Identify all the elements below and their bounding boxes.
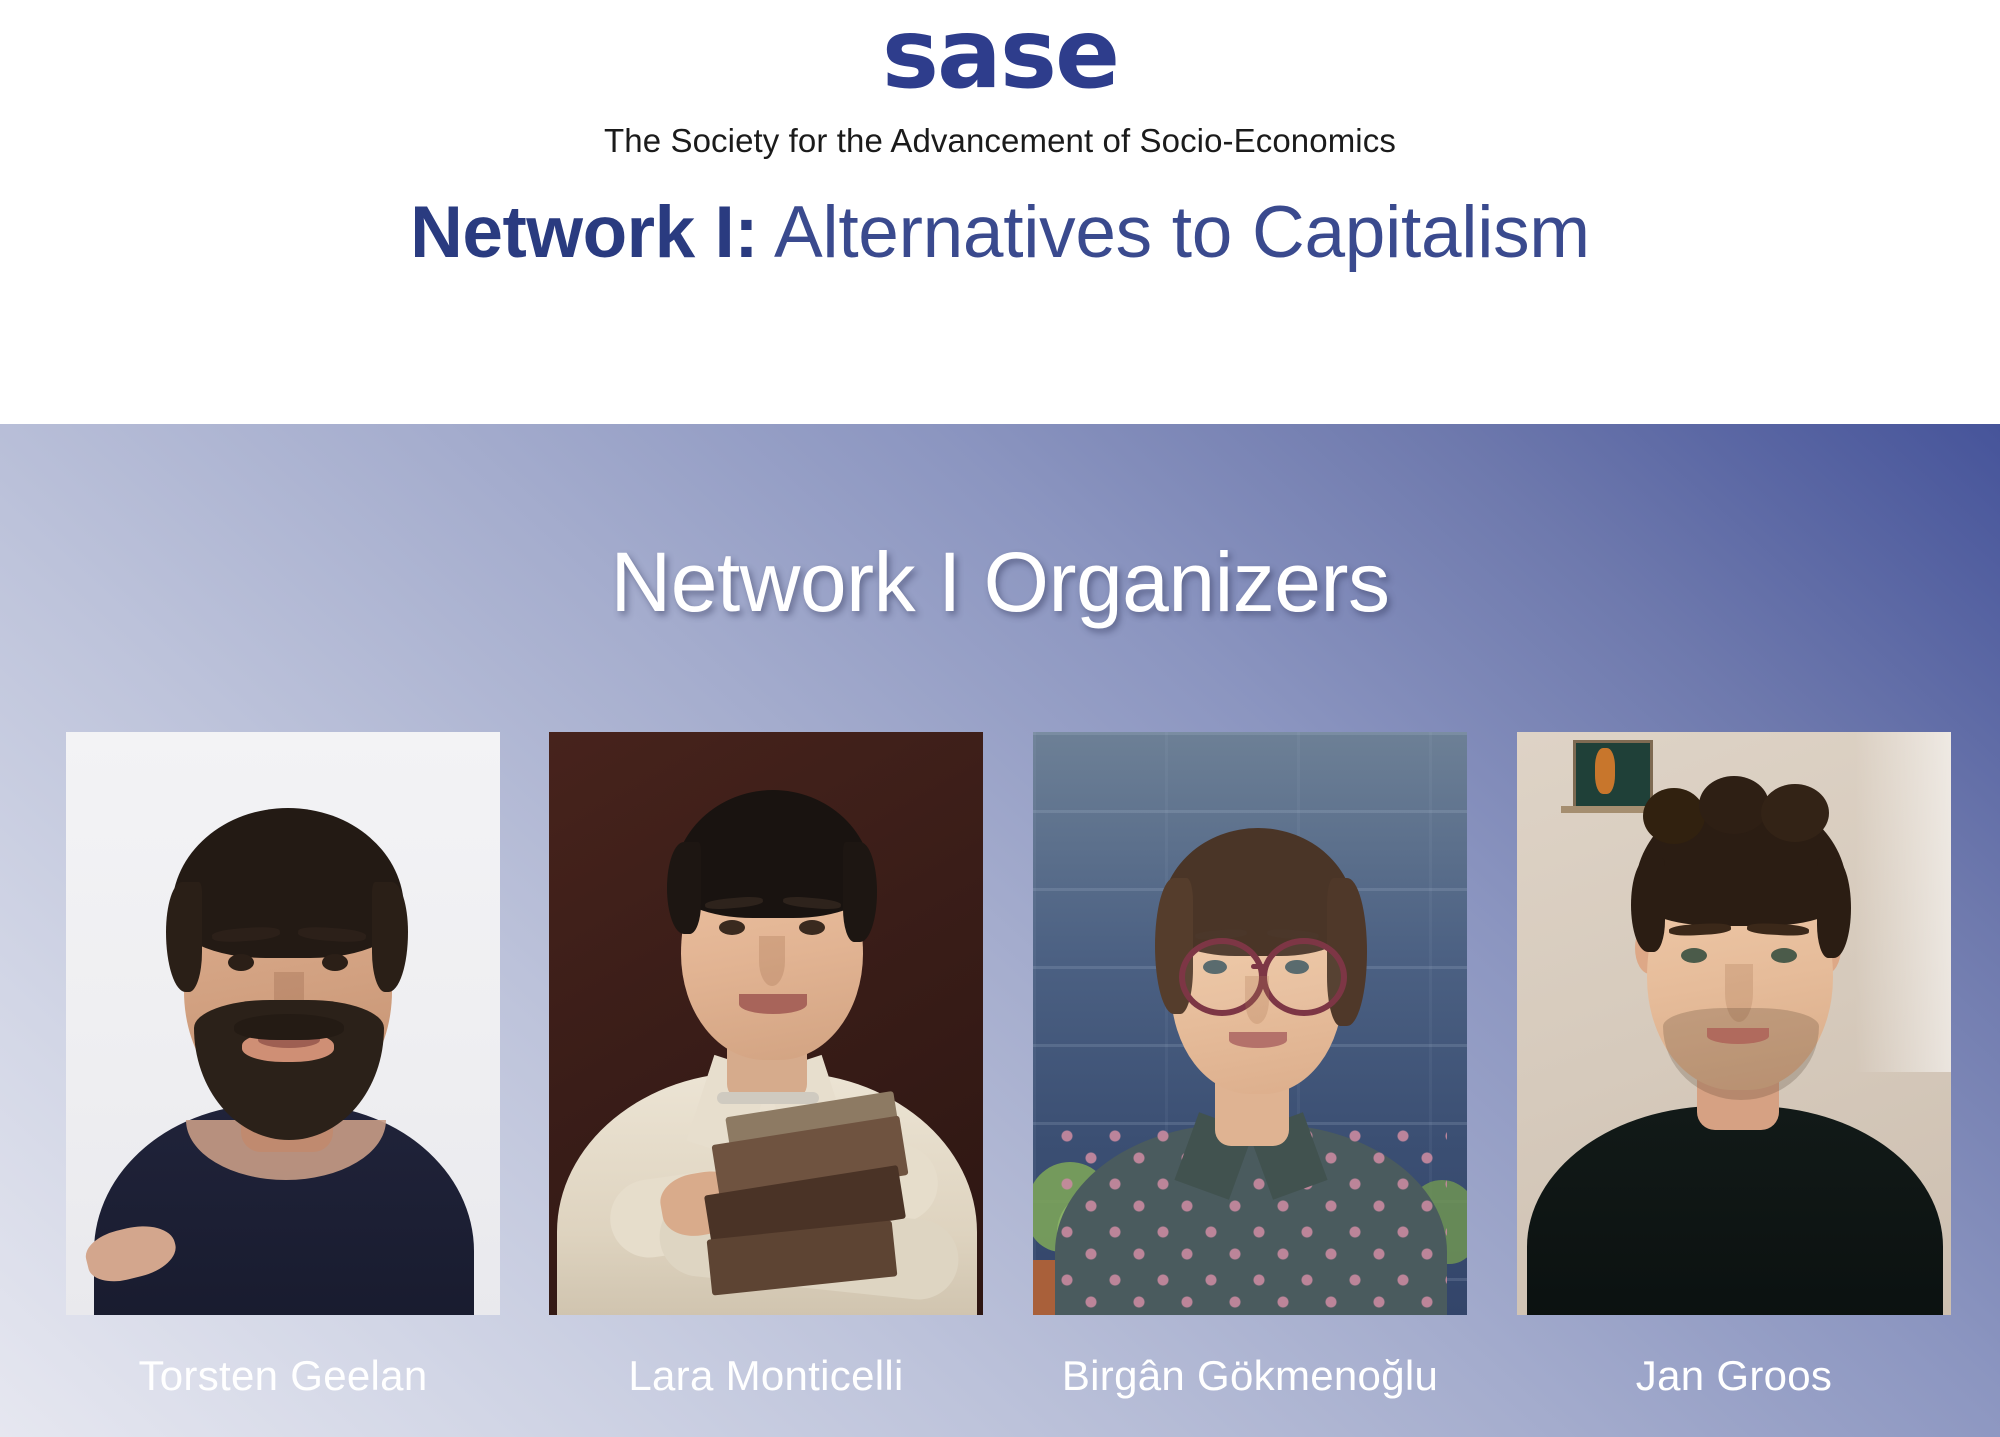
page-title-suffix: Alternatives to Capitalism [774,192,1590,273]
page-header: sase The Society for the Advancement of … [0,0,2000,424]
organizer-photo [1033,732,1467,1315]
organizer-photo [1517,732,1951,1315]
sase-logo[interactable]: sase [0,6,2000,102]
organizer-name: Jan Groos [1477,1352,1991,1400]
organization-subtitle: The Society for the Advancement of Socio… [0,122,2000,160]
organizer-name: Birgân Gökmenoğlu [993,1352,1507,1400]
organizers-grid: Torsten Geelan [0,424,2000,1437]
organizer-card[interactable]: Torsten Geelan [66,732,500,1315]
page-title: Network I: Alternatives to Capitalism [0,192,2000,274]
organizer-name: Lara Monticelli [509,1352,1023,1400]
organizers-section: Network I Organizers [0,424,2000,1437]
glasses-lens-right [1261,938,1347,1016]
organizer-card[interactable]: Birgân Gökmenoğlu [1033,732,1467,1315]
page-title-main [758,192,774,273]
organizer-card[interactable]: Jan Groos [1517,732,1951,1315]
organizer-photo [549,732,983,1315]
page-title-prefix: Network I: [410,192,758,273]
organizer-card[interactable]: Lara Monticelli [549,732,983,1315]
organizer-name: Torsten Geelan [26,1352,540,1400]
organizer-photo [66,732,500,1315]
sase-logo-text: sase [882,6,1118,102]
